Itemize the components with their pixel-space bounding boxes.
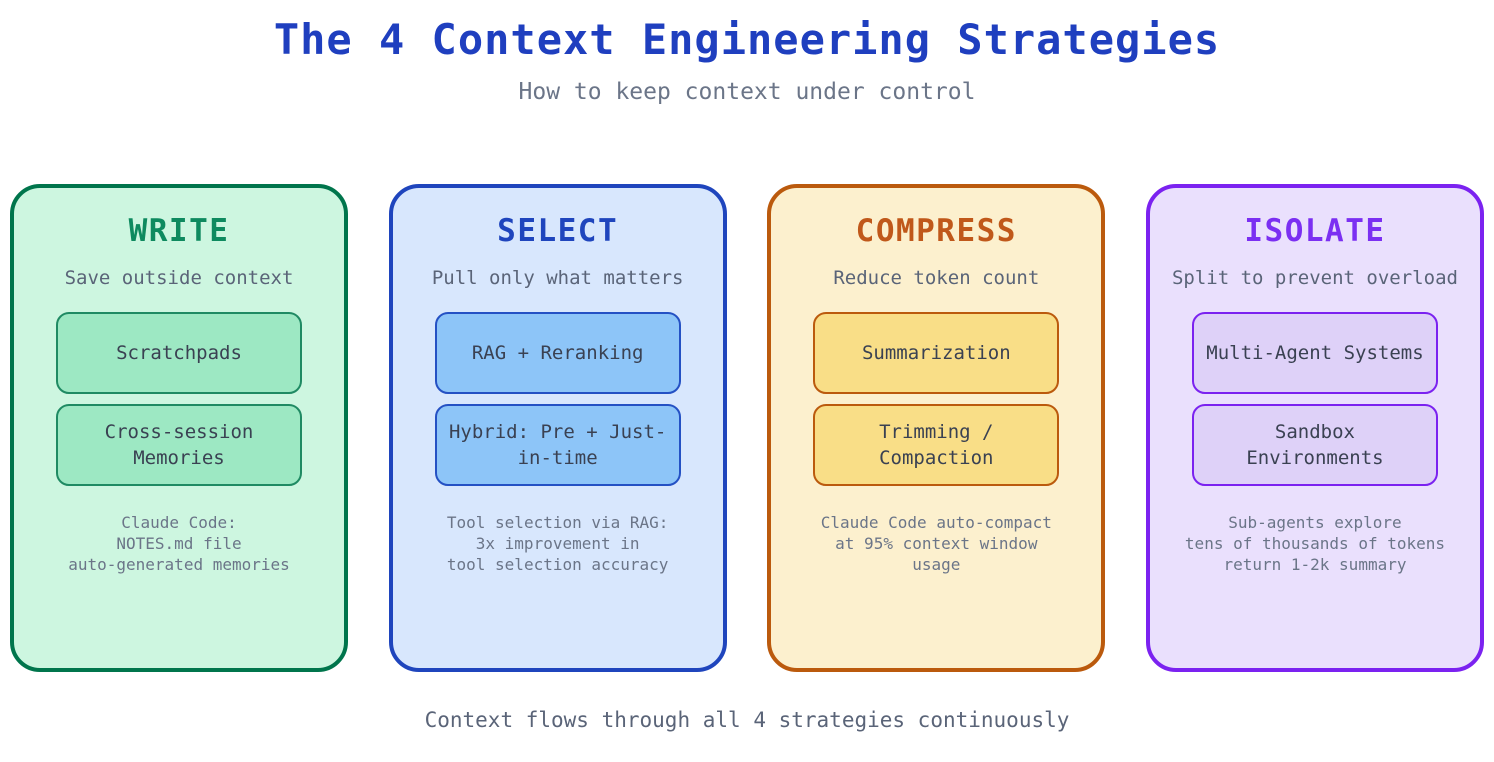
pill-label: Hybrid: Pre + Just-in-time: [445, 419, 671, 471]
card-tagline-isolate: Split to prevent overload: [1172, 250, 1458, 290]
strategy-card-write[interactable]: WRITE Save outside context Scratchpads C…: [10, 184, 348, 672]
pill-stack-isolate: Multi-Agent Systems Sandbox Environments: [1192, 312, 1438, 486]
card-title-compress: COMPRESS: [856, 188, 1017, 250]
card-note-write: Claude Code: NOTES.md file auto-generate…: [68, 486, 290, 575]
card-title-select: SELECT: [497, 188, 618, 250]
pill-label: Sandbox Environments: [1202, 419, 1428, 471]
pill-stack-write: Scratchpads Cross-session Memories: [56, 312, 302, 486]
pill-compress-1[interactable]: Trimming / Compaction: [813, 404, 1059, 486]
strategy-card-isolate[interactable]: ISOLATE Split to prevent overload Multi-…: [1146, 184, 1484, 672]
card-title-write: WRITE: [129, 188, 230, 250]
pill-stack-select: RAG + Reranking Hybrid: Pre + Just-in-ti…: [435, 312, 681, 486]
footer: Context flows through all 4 strategies c…: [0, 706, 1494, 734]
card-tagline-select: Pull only what matters: [432, 250, 684, 290]
card-note-select: Tool selection via RAG: 3x improvement i…: [447, 486, 669, 575]
pill-stack-compress: Summarization Trimming / Compaction: [813, 312, 1059, 486]
card-note-isolate: Sub-agents explore tens of thousands of …: [1185, 486, 1445, 575]
pill-label: Multi-Agent Systems: [1206, 340, 1423, 366]
pill-write-1[interactable]: Cross-session Memories: [56, 404, 302, 486]
diagram-canvas: The 4 Context Engineering Strategies How…: [0, 0, 1494, 762]
pill-label: Scratchpads: [116, 340, 242, 366]
strategy-cards-row: WRITE Save outside context Scratchpads C…: [10, 184, 1484, 672]
pill-isolate-0[interactable]: Multi-Agent Systems: [1192, 312, 1438, 394]
pill-select-1[interactable]: Hybrid: Pre + Just-in-time: [435, 404, 681, 486]
header: The 4 Context Engineering Strategies How…: [0, 0, 1494, 106]
card-tagline-write: Save outside context: [65, 250, 294, 290]
strategy-card-compress[interactable]: COMPRESS Reduce token count Summarizatio…: [767, 184, 1105, 672]
card-note-compress: Claude Code auto-compact at 95% context …: [821, 486, 1052, 575]
pill-label: Summarization: [862, 340, 1011, 366]
pill-isolate-1[interactable]: Sandbox Environments: [1192, 404, 1438, 486]
pill-label: RAG + Reranking: [472, 340, 644, 366]
footer-caption: Context flows through all 4 strategies c…: [0, 706, 1494, 734]
pill-write-0[interactable]: Scratchpads: [56, 312, 302, 394]
strategy-card-select[interactable]: SELECT Pull only what matters RAG + Rera…: [389, 184, 727, 672]
page-subtitle: How to keep context under control: [0, 64, 1494, 106]
pill-select-0[interactable]: RAG + Reranking: [435, 312, 681, 394]
pill-compress-0[interactable]: Summarization: [813, 312, 1059, 394]
page-title: The 4 Context Engineering Strategies: [0, 0, 1494, 64]
card-title-isolate: ISOLATE: [1244, 188, 1385, 250]
card-tagline-compress: Reduce token count: [833, 250, 1039, 290]
pill-label: Trimming / Compaction: [823, 419, 1049, 471]
pill-label: Cross-session Memories: [66, 419, 292, 471]
